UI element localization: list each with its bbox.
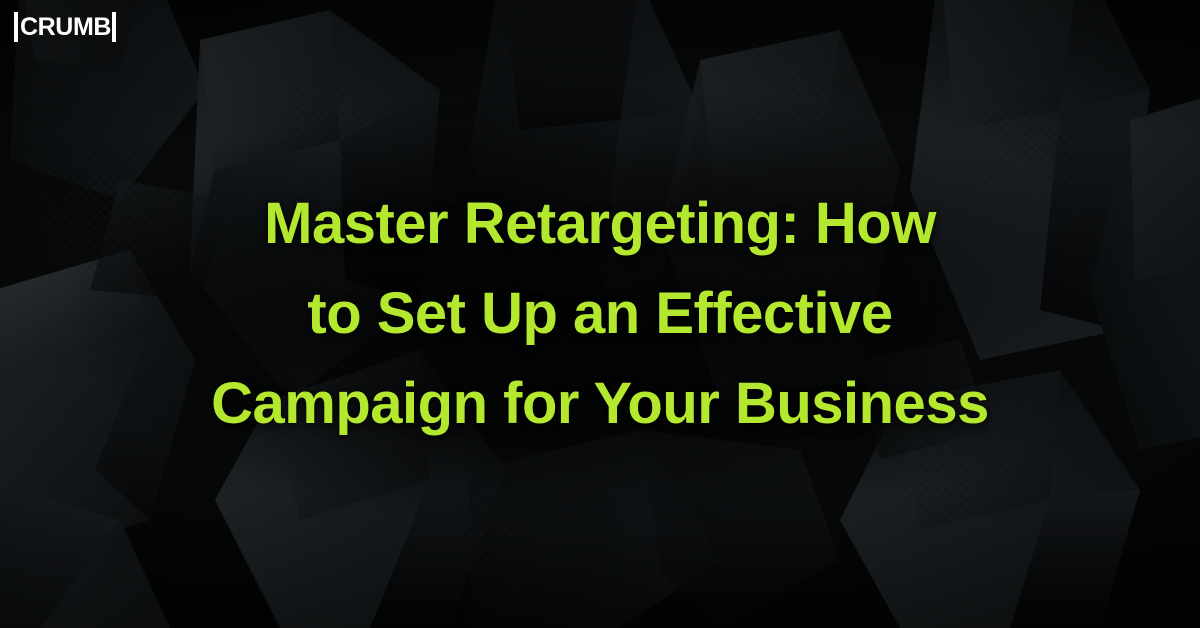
headline-container: Master Retargeting: How to Set Up an Eff… [0, 0, 1200, 628]
social-share-card: CRUMB Master Retargeting: How to Set Up … [0, 0, 1200, 628]
headline-line-2: to Set Up an Effective [211, 269, 989, 359]
headline-line-1: Master Retargeting: How [211, 179, 989, 269]
page-title: Master Retargeting: How to Set Up an Eff… [211, 179, 989, 449]
crumb-logo[interactable]: CRUMB [14, 12, 116, 42]
logo-bracket-left-icon [14, 12, 18, 42]
headline-line-3: Campaign for Your Business [211, 359, 989, 449]
logo-wordmark: CRUMB [20, 12, 111, 42]
logo-bracket-right-icon [112, 12, 116, 42]
